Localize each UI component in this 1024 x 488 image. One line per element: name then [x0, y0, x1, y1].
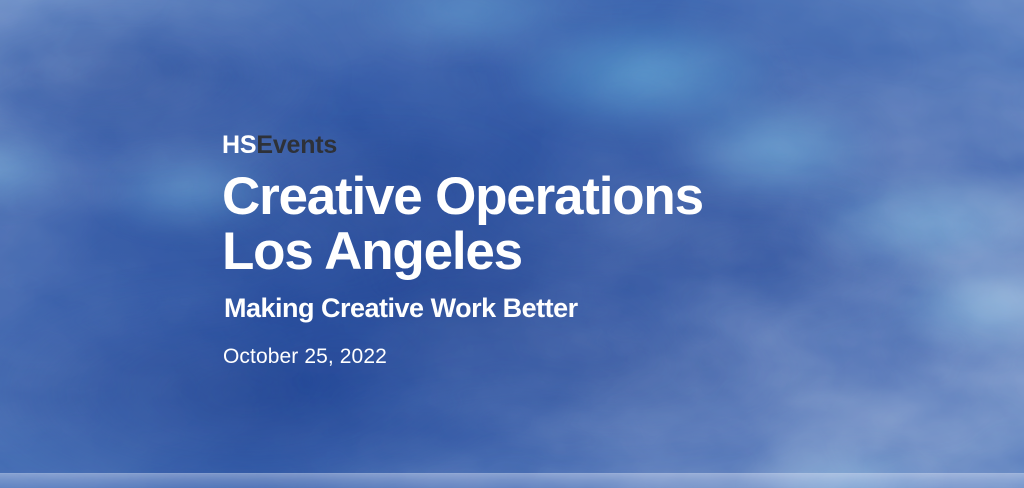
logo-text-hs: HS	[222, 131, 256, 159]
hsevents-logo: HSEvents	[222, 133, 982, 158]
event-date: October 25, 2022	[223, 345, 982, 368]
banner-content: HSEvents Creative Operations Los Angeles…	[222, 133, 982, 368]
bottom-edge-seam	[0, 473, 1024, 488]
event-banner: HSEvents Creative Operations Los Angeles…	[0, 0, 1024, 488]
logo-text-events: Events	[256, 131, 337, 159]
title-line-1: Creative Operations	[222, 169, 982, 224]
tagline: Making Creative Work Better	[224, 294, 982, 324]
page-title: Creative Operations Los Angeles	[222, 169, 982, 279]
title-line-2: Los Angeles	[222, 224, 982, 279]
